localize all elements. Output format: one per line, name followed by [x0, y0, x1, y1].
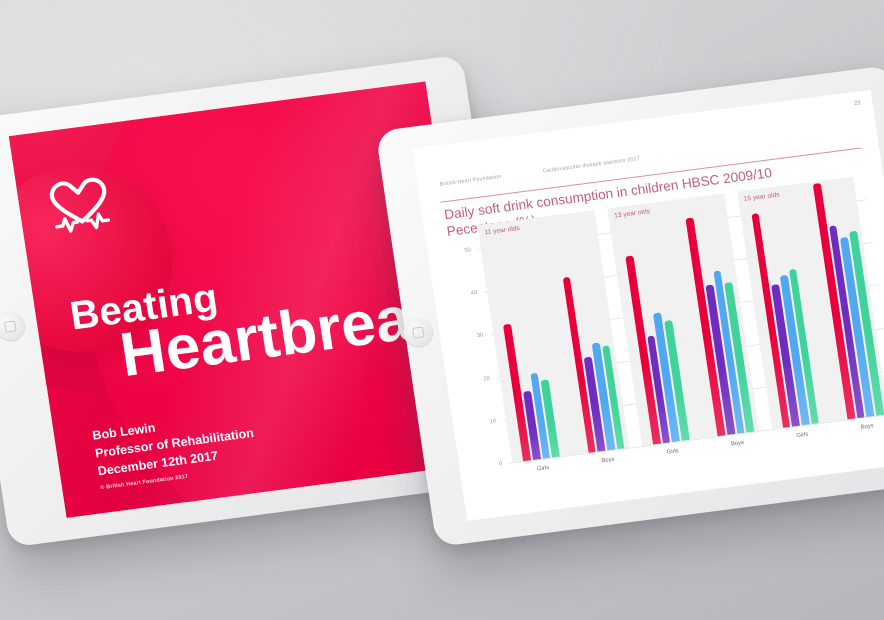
x-axis-label: Boys — [731, 440, 745, 448]
y-axis-tick: 20 — [483, 376, 490, 383]
home-button[interactable] — [0, 310, 27, 344]
home-button[interactable] — [401, 316, 435, 350]
x-axis-label: Boys — [601, 457, 615, 465]
tablet-screen[interactable]: 23 British Heart Foundation Cardiovascul… — [412, 90, 884, 521]
y-axis-tick: 50 — [464, 247, 471, 254]
bar-chart-plot-area: 0102030405011 year olds13 year olds15 ye… — [478, 199, 884, 463]
chart-slide: 23 British Heart Foundation Cardiovascul… — [412, 90, 884, 521]
x-axis-label: Girls — [796, 432, 809, 439]
x-axis-label: Girls — [537, 465, 550, 472]
scene: Beating Heartbreak Bob Lewin Professor o… — [0, 0, 884, 620]
bhf-heart-pulse-logo — [37, 167, 123, 246]
x-axis-label: Girls — [666, 448, 679, 455]
header-publication: Cardiovascular disease statistics 2017 — [543, 156, 641, 174]
y-axis-tick: 10 — [489, 418, 496, 425]
y-axis-tick: 0 — [499, 461, 503, 467]
y-axis-tick: 40 — [470, 290, 477, 297]
y-axis-tick: 30 — [477, 333, 484, 340]
x-axis-label: Boys — [860, 423, 874, 431]
header-organisation: British Heart Foundation — [439, 174, 501, 188]
tablet-device-chart-slide[interactable]: 23 British Heart Foundation Cardiovascul… — [375, 65, 884, 547]
page-number: 23 — [854, 100, 861, 107]
document-header: British Heart Foundation Cardiovascular … — [439, 156, 640, 188]
